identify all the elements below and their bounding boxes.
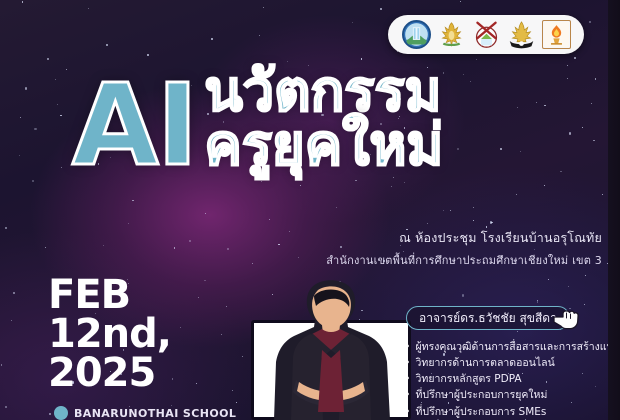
credential-text: ผู้ทรงคุณวุฒิด้านการสื่อสารและการสร้างแบ… — [416, 341, 620, 354]
organization-logo-bar — [388, 15, 584, 54]
headline-thai-line-1: นวัตกรรม — [204, 64, 443, 120]
date-month: FEB — [48, 276, 171, 315]
school-location: BANARUNOTHAI SCHOOL — [54, 406, 236, 420]
credential-item: •วิทยากรด้านการตลาดออนไลน์ — [404, 357, 618, 370]
right-edge-strip — [608, 0, 620, 420]
date-year: 2025 — [48, 354, 171, 393]
bullet-icon: • — [404, 406, 411, 419]
headline-ai: AI — [0, 77, 196, 176]
credential-text: วิทยากรหลักสูตร PDPA — [416, 373, 522, 386]
credential-item: •ผู้ทรงคุณวุฒิด้านการสื่อสารและการสร้างแ… — [404, 341, 618, 354]
bullet-icon: • — [404, 357, 411, 370]
headline-block: AI นวัตกรรม ครูยุคใหม่ — [0, 64, 608, 176]
royal-crest-banner-emblem — [507, 20, 536, 49]
speaker-portrait — [256, 276, 406, 420]
bullet-icon: • — [404, 373, 411, 386]
flame-torch-framed-emblem — [542, 20, 571, 49]
credential-text: ที่ปรึกษาผู้ประกอบการยุคใหม่ — [416, 389, 548, 402]
bullet-icon: • — [404, 341, 411, 354]
credential-text: วิทยากรด้านการตลาดออนไลน์ — [416, 357, 555, 370]
venue-info: ณ ห้องประชุม โรงเรียนบ้านอรุโณทัย สำนักง… — [182, 228, 602, 269]
event-date: FEB 12nd, 2025 — [48, 276, 171, 394]
pointing-hand-icon — [552, 305, 582, 331]
headline-thai-line-2: ครูยุคใหม่ — [204, 118, 443, 174]
speaker-credentials: •ผู้ทรงคุณวุฒิด้านการสื่อสารและการสร้างแ… — [404, 341, 618, 420]
event-poster: AI นวัตกรรม ครูยุคใหม่ ณ ห้องประชุม โรงเ… — [0, 0, 620, 420]
credential-item: •ที่ปรึกษาผู้ประกอบการยุคใหม่ — [404, 389, 618, 402]
location-pin-icon — [54, 406, 68, 420]
waterfall-circle-emblem — [402, 20, 431, 49]
garuda-gold-emblem — [437, 20, 466, 49]
credential-item: •วิทยากรหลักสูตร PDPA — [404, 373, 618, 386]
credential-text: ที่ปรึกษาผู้ประกอบการ SMEs — [416, 406, 547, 419]
bullet-icon: • — [404, 389, 411, 402]
date-day: 12nd, — [48, 315, 171, 354]
school-name: BANARUNOTHAI SCHOOL — [74, 407, 236, 420]
venue-line-2: สำนักงานเขตพื้นที่การศึกษาประถมศึกษาเชีย… — [182, 251, 602, 269]
speaker-name-pill: อาจารย์ดร.ธวัชชัย สุขสีดา — [406, 306, 570, 330]
venue-line-1: ณ ห้องประชุม โรงเรียนบ้านอรุโณทัย — [182, 228, 602, 248]
credential-item: •ที่ปรึกษาผู้ประกอบการ SMEs — [404, 406, 618, 419]
crossed-swords-emblem — [472, 20, 501, 49]
speaker-name: อาจารย์ดร.ธวัชชัย สุขสีดา — [419, 309, 557, 328]
